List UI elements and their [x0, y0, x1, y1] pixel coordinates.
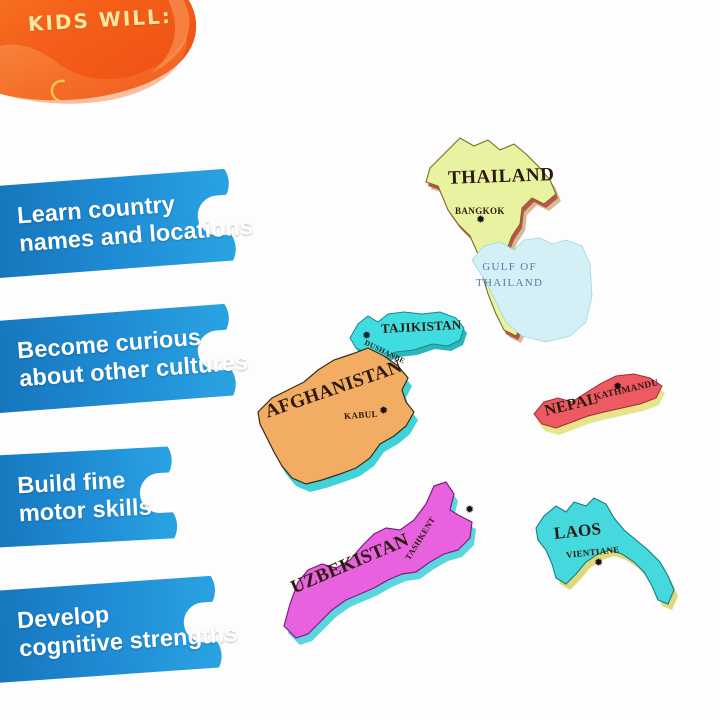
kids-will-badge: KIDS WILL: — [0, 0, 205, 116]
nepal-shape — [530, 370, 670, 442]
map-piece-laos[interactable]: LAOS VIENTIANE ✹ — [528, 492, 688, 622]
promo-graphic: KIDS WILL: Learn country names and locat… — [0, 0, 720, 720]
uzbekistan-shape — [274, 476, 484, 646]
gulf-of-thailand-water — [466, 236, 596, 356]
benefit-banner-learn-country-names: Learn country names and locations — [0, 164, 299, 280]
map-piece-nepal[interactable]: NEPAL KATHMANDU ✹ — [530, 370, 670, 442]
banner-text: Build fine motor skills — [17, 464, 153, 527]
map-piece-uzbekistan[interactable]: UZBEKISTAN TASHKENT ✹ — [274, 476, 484, 646]
benefit-banner-build-motor-skills: Build fine motor skills — [0, 443, 240, 549]
benefit-banner-develop-cognitive: Develop cognitive strengths — [0, 571, 285, 685]
crescent-icon — [48, 78, 70, 102]
laos-shape — [528, 492, 688, 622]
